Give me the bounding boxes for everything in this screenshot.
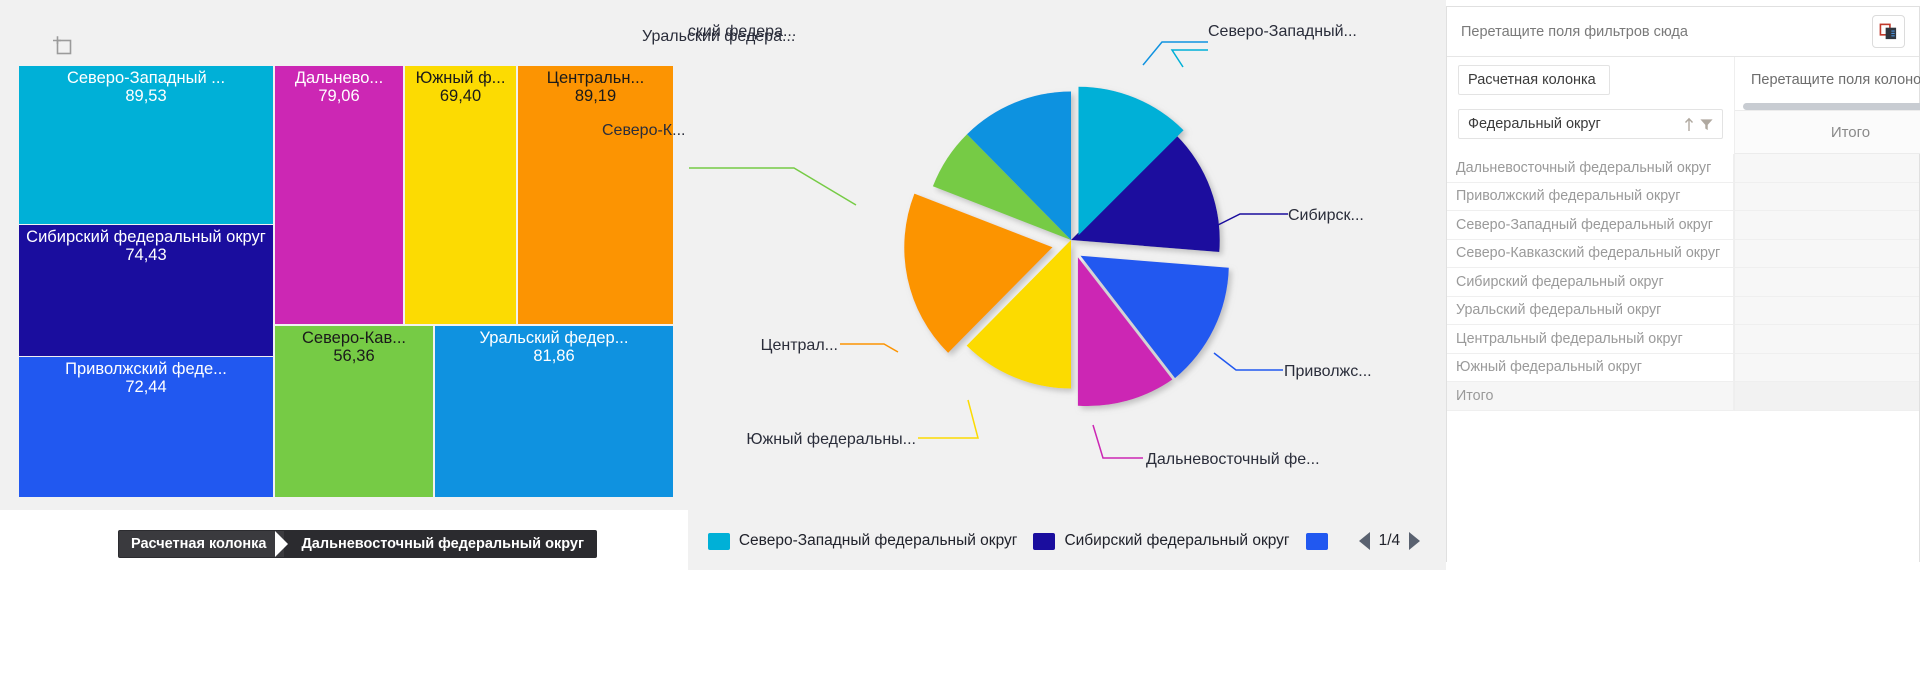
chevron-left-icon[interactable] [1359, 532, 1370, 550]
totals-column-header: Итого [1735, 110, 1920, 154]
tile-label: Северо-Кав... [275, 329, 433, 347]
treemap-tile[interactable]: Приволжский феде... 72,44 [19, 357, 273, 497]
tile-label: Сибирский федеральный округ [19, 228, 273, 246]
tile-label: Приволжский феде... [19, 360, 273, 378]
tile-label: Дальнево... [275, 69, 403, 87]
callout-yuzhniy: Южный федеральны... [746, 431, 916, 448]
app-canvas: Северо-Западный ... 89,53 Сибирский феде… [0, 0, 1920, 686]
tile-value: 72,44 [19, 378, 273, 396]
pie-slices [904, 87, 1229, 406]
tile-value: 79,06 [275, 87, 403, 105]
callout-severozapadniy: Северо-Западный... [1208, 23, 1357, 40]
table-cell[interactable] [1735, 240, 1919, 269]
field-chip-measure[interactable]: Расчетная колонка [1458, 65, 1610, 95]
sort-asc-icon[interactable] [1683, 117, 1695, 132]
table-row[interactable]: Северо-Кавказский федеральный округ [1447, 240, 1734, 269]
crop-add-icon[interactable] [50, 33, 74, 57]
callout-severokavkaz-text: Северо-К... [602, 122, 685, 140]
treemap-toolbar [0, 0, 688, 60]
treemap-tile[interactable]: Дальнево... 79,06 [275, 66, 403, 324]
tile-value: 89,53 [19, 87, 273, 105]
field-chip-label: Расчетная колонка [1468, 72, 1601, 88]
breadcrumb-measure[interactable]: Расчетная колонка [119, 531, 284, 557]
tile-value: 89,19 [518, 87, 673, 105]
callout-uralskiy-text: Уральский федера... [642, 28, 795, 46]
legend-item[interactable] [1306, 533, 1337, 550]
legend-label: Северо-Западный федеральный округ [739, 532, 1018, 550]
pivot-zones: Расчетная колонка Федеральный округ [1447, 57, 1919, 154]
tile-value: 81,86 [435, 347, 673, 365]
legend-swatch [1306, 533, 1328, 550]
breadcrumb-category[interactable]: Дальневосточный федеральный округ [295, 531, 596, 557]
treemap-tile[interactable]: Уральский федер... 81,86 [435, 326, 673, 497]
legend-page-indicator: 1/4 [1379, 532, 1401, 550]
columns-scrollbar[interactable] [1743, 103, 1920, 110]
treemap-widget: Северо-Западный ... 89,53 Сибирский феде… [0, 0, 688, 510]
pivot-measure-zone[interactable]: Расчетная колонка [1447, 57, 1734, 103]
tile-label: Северо-Западный ... [19, 69, 273, 87]
pivot-empty-area [1447, 411, 1919, 686]
tile-label: Центральн... [518, 69, 673, 87]
columns-dropzone[interactable]: Перетащите поля колонок сюда [1735, 57, 1920, 103]
field-chip-label: Федеральный округ [1468, 116, 1683, 132]
pivot-row-headers: Дальневосточный федеральный округ Привол… [1447, 154, 1734, 411]
table-row[interactable]: Сибирский федеральный округ [1447, 268, 1734, 297]
treemap-tile[interactable]: Сибирский федеральный округ 74,43 [19, 225, 273, 356]
field-chip-row-field[interactable]: Федеральный округ [1458, 109, 1723, 139]
treemap-breadcrumb-status[interactable]: Расчетная колонка Дальневосточный федера… [119, 531, 596, 557]
table-row[interactable]: Приволжский федеральный округ [1447, 183, 1734, 212]
pie-chart-widget: Северо-Западный... Сибирск... Приволжс..… [688, 0, 1446, 570]
legend-swatch [708, 533, 730, 550]
tile-value: 74,43 [19, 246, 273, 264]
table-cell[interactable] [1735, 325, 1919, 354]
callout-sibirskiy: Сибирск... [1288, 207, 1364, 224]
pivot-value-cells [1734, 154, 1919, 411]
funnel-icon[interactable] [1699, 117, 1714, 132]
pivot-left-zones: Расчетная колонка Федеральный округ [1447, 57, 1734, 154]
tile-label: Уральский федер... [435, 329, 673, 347]
table-cell[interactable] [1735, 354, 1919, 383]
table-row[interactable]: Северо-Западный федеральный округ [1447, 211, 1734, 240]
pivot-body: Дальневосточный федеральный округ Привол… [1447, 154, 1919, 411]
chevron-right-icon[interactable] [1409, 532, 1420, 550]
tile-value: 56,36 [275, 347, 433, 365]
treemap-tile[interactable]: Южный ф... 69,40 [405, 66, 516, 324]
tile-label: Южный ф... [405, 69, 516, 87]
table-row[interactable]: Уральский федеральный округ [1447, 297, 1734, 326]
columns-dropzone-placeholder: Перетащите поля колонок сюда [1751, 72, 1920, 88]
legend-item[interactable]: Сибирский федеральный округ [1033, 532, 1289, 550]
pivot-table-widget: Перетащите поля фильтров сюда Расчетная … [1446, 6, 1920, 562]
callout-dalnevostochniy: Дальневосточный фе... [1146, 451, 1320, 468]
table-row-total[interactable]: Итого [1447, 382, 1734, 411]
treemap-tile[interactable]: Северо-Западный ... 89,53 [19, 66, 273, 224]
report-copy-icon[interactable] [1872, 15, 1905, 48]
tile-value: 69,40 [405, 87, 516, 105]
table-cell[interactable] [1735, 297, 1919, 326]
table-cell[interactable] [1735, 183, 1919, 212]
pie-chart-svg[interactable]: Северо-Западный... Сибирск... Приволжс..… [688, 0, 1446, 520]
table-cell[interactable] [1735, 154, 1919, 183]
legend-swatch [1033, 533, 1055, 550]
table-cell[interactable] [1735, 268, 1919, 297]
table-row[interactable]: Южный федеральный округ [1447, 354, 1734, 383]
callout-centralniy: Централ... [761, 337, 838, 354]
treemap-tile[interactable]: Северо-Кав... 56,36 [275, 326, 433, 497]
callout-privolzhskiy: Приволжс... [1284, 363, 1372, 380]
treemap-tiles: Северо-Западный ... 89,53 Сибирский феде… [19, 66, 673, 497]
table-cell-total[interactable] [1735, 382, 1919, 411]
table-row[interactable]: Дальневосточный федеральный округ [1447, 154, 1734, 183]
legend-item[interactable]: Северо-Западный федеральный округ [708, 532, 1018, 550]
treemap-tile[interactable]: Центральн... 89,19 [518, 66, 673, 324]
pie-legend: Северо-Западный федеральный округ Сибирс… [688, 524, 1446, 558]
pivot-filter-dropzone[interactable]: Перетащите поля фильтров сюда [1447, 7, 1919, 57]
filter-dropzone-placeholder: Перетащите поля фильтров сюда [1461, 24, 1688, 40]
table-row[interactable]: Центральный федеральный округ [1447, 325, 1734, 354]
pivot-rows-zone[interactable]: Федеральный округ [1447, 103, 1734, 147]
pivot-right-zones: Перетащите поля колонок сюда Итого [1734, 57, 1920, 154]
legend-label: Сибирский федеральный округ [1064, 532, 1289, 550]
table-cell[interactable] [1735, 211, 1919, 240]
